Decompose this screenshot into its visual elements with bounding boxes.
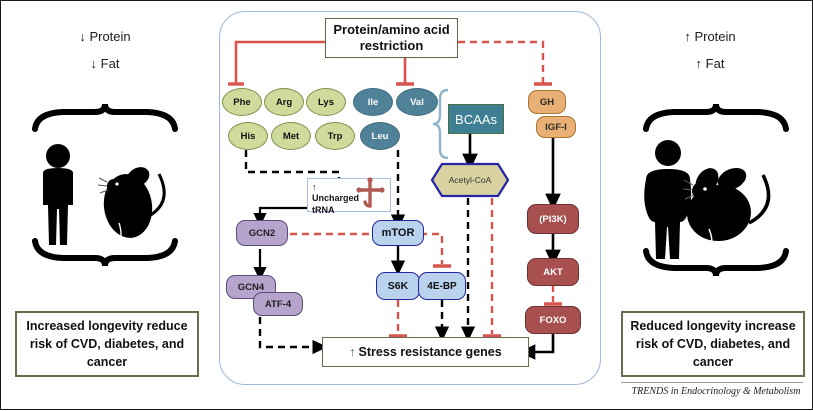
akt-label: AKT	[543, 267, 563, 278]
fourebp-node[interactable]: 4E-BP	[418, 272, 466, 300]
mtor-node[interactable]: mTOR	[372, 220, 424, 246]
right-outcome-text: Reduced longevity increase risk of CVD, …	[623, 317, 803, 371]
obese-human-icon	[644, 140, 691, 259]
stress-genes-label: Stress resistance genes	[359, 345, 502, 359]
atf4-node[interactable]: ATF-4	[253, 292, 303, 316]
mtor-label: mTOR	[382, 227, 415, 239]
stress-up-arrow: ↑	[349, 345, 355, 359]
obese-mouse-icon	[683, 164, 769, 247]
journal-credit: TRENDS in Endocrinology & Metabolism	[621, 386, 811, 397]
s6k-node[interactable]: S6K	[376, 272, 420, 300]
gcn2-label: GCN2	[249, 228, 275, 239]
pi3k-node[interactable]: (PI3K)	[527, 204, 579, 234]
fourebp-label: 4E-BP	[427, 281, 456, 292]
stress-resistance-genes-box[interactable]: ↑ Stress resistance genes	[322, 337, 529, 367]
s6k-label: S6K	[388, 280, 408, 292]
right-outcome-box: Reduced longevity increase risk of CVD, …	[621, 311, 805, 377]
akt-node[interactable]: AKT	[527, 258, 579, 286]
gcn4-label: GCN4	[238, 282, 264, 293]
gcn2-node[interactable]: GCN2	[236, 220, 288, 246]
foxo-node[interactable]: FOXO	[525, 306, 581, 334]
foxo-label: FOXO	[540, 315, 567, 326]
pi3k-label: (PI3K)	[539, 214, 566, 225]
credit-divider	[621, 382, 803, 383]
figure-root: ↓ Protein ↓ Fat Increased longevity redu…	[0, 0, 813, 410]
pathway-container: Protein/amino acid restriction Phe Arg L…	[219, 11, 601, 385]
atf4-label: ATF-4	[265, 299, 291, 310]
